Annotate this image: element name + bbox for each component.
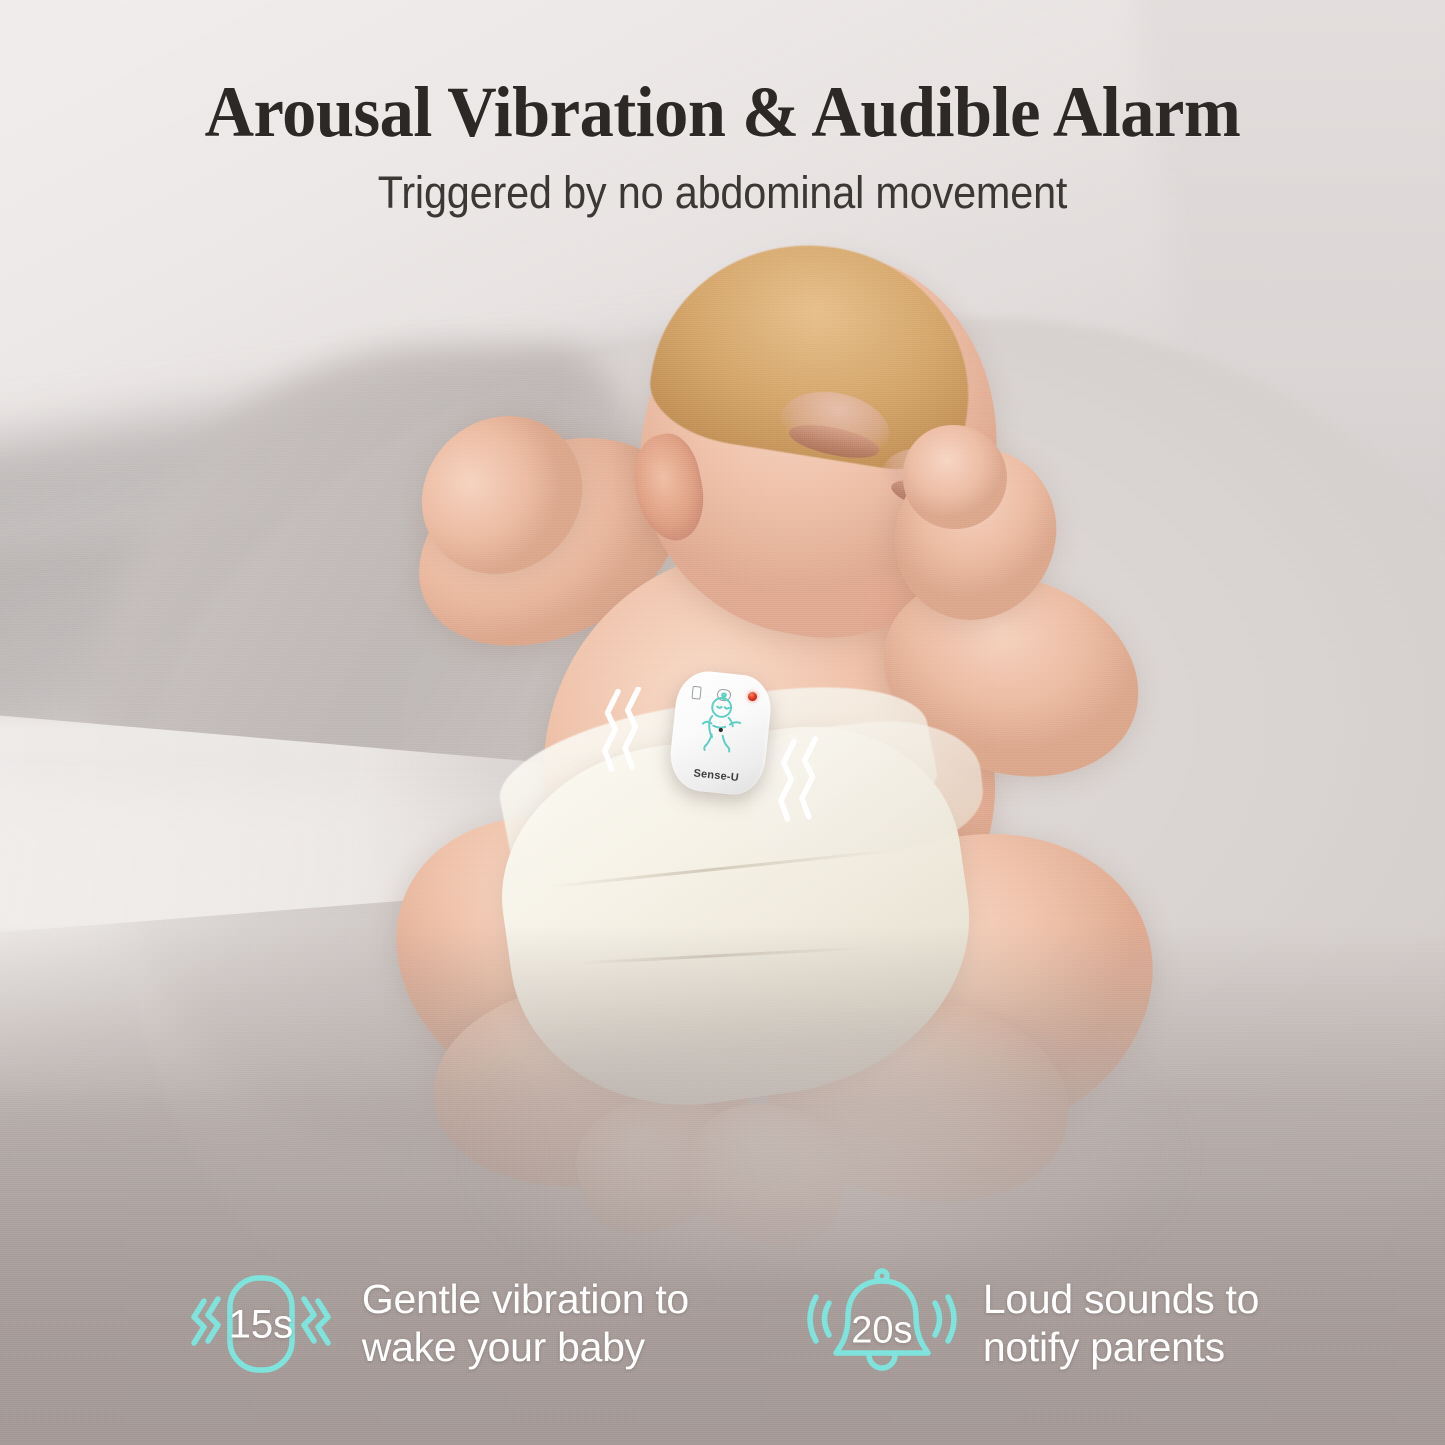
bell-icon: 20s [807,1265,957,1383]
vibration-waves-right-icon [771,732,828,836]
vibration-waves-left-icon [598,685,651,785]
feature-alarm: 20s Loud sounds to notify parents [807,1265,1259,1383]
device-brand-label: Sense-U [668,765,764,787]
baby-fist [903,425,1007,529]
promo-image: Sense-U Arousal Vibration & Audible Alar… [0,0,1445,1445]
sense-u-sensor-device[interactable]: Sense-U [667,669,774,798]
baby-line-art-logo-icon [690,690,753,762]
vibration-feature-text: Gentle vibration to wake your baby [362,1276,689,1372]
vibration-duration-label: 15s [186,1302,336,1347]
bedding-sheen [405,1040,1243,1271]
alarm-feature-text: Loud sounds to notify parents [983,1276,1259,1372]
vibration-device-icon: 15s [186,1265,336,1383]
feature-vibration: 15s Gentle vibration to wake your baby [186,1265,689,1383]
page-title: Arousal Vibration & Audible Alarm [36,76,1409,148]
page-subtitle: Triggered by no abdominal movement [58,170,1387,215]
alarm-duration-label: 20s [807,1309,957,1352]
feature-callouts: 15s Gentle vibration to wake your baby 2… [0,1249,1445,1399]
